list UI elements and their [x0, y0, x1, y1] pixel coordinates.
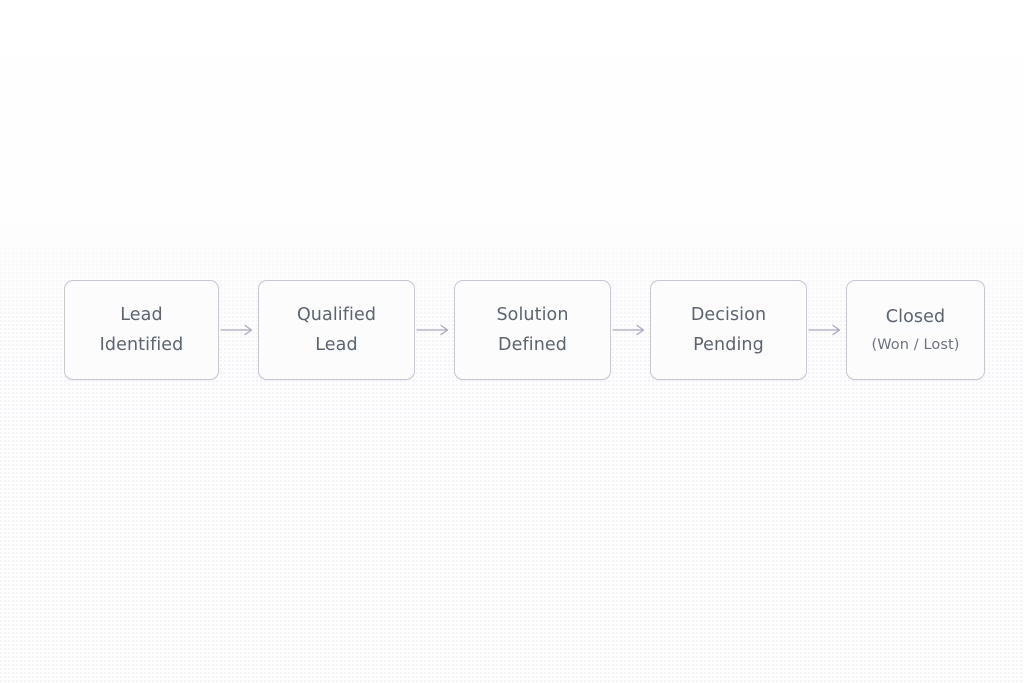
flow-node-label-sub: (Won / Lost) — [871, 332, 959, 358]
flow-node-label-line1: Qualified — [297, 300, 376, 330]
flow-node-label-line2: Pending — [693, 330, 764, 360]
flow-node-label-line1: Closed — [886, 302, 945, 332]
flow-node-solution-defined[interactable]: Solution Defined — [454, 280, 611, 380]
flow-node-label-line1: Solution — [496, 300, 568, 330]
arrow-right-icon — [219, 320, 258, 340]
pipeline-flow-row: Lead Identified Qualified Lead Solution … — [0, 280, 1024, 380]
top-gradient-wash — [0, 0, 1024, 300]
flow-node-closed[interactable]: Closed (Won / Lost) — [846, 280, 985, 380]
flow-node-label-line2: Identified — [100, 330, 184, 360]
flow-node-lead-identified[interactable]: Lead Identified — [64, 280, 219, 380]
flow-node-qualified-lead[interactable]: Qualified Lead — [258, 280, 415, 380]
flow-node-label-line2: Lead — [315, 330, 357, 360]
flow-node-label-line1: Decision — [691, 300, 766, 330]
flow-node-decision-pending[interactable]: Decision Pending — [650, 280, 807, 380]
arrow-right-icon — [611, 320, 650, 340]
flow-node-label-line2: Defined — [498, 330, 567, 360]
arrow-right-icon — [415, 320, 454, 340]
flow-node-label-line1: Lead — [120, 300, 162, 330]
arrow-right-icon — [807, 320, 846, 340]
diagram-canvas: Lead Identified Qualified Lead Solution … — [0, 0, 1024, 683]
